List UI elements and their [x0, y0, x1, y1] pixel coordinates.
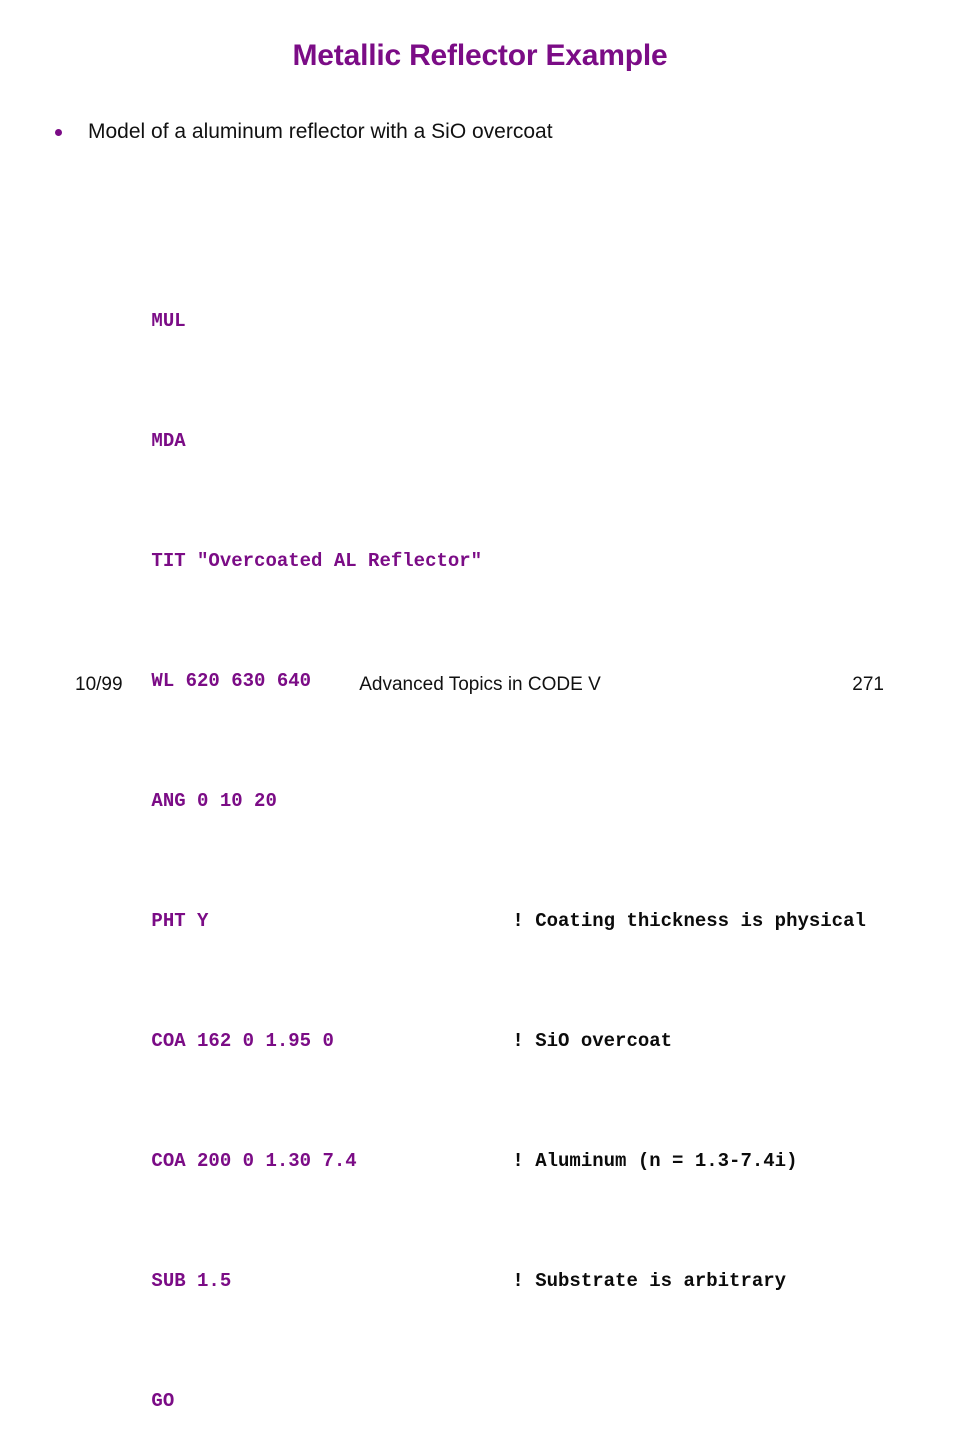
- code-line: COA 162 0 1.95 0! SiO overcoat: [83, 996, 866, 1026]
- code-command: SUB 1.5: [151, 1266, 512, 1296]
- code-command: MUL: [151, 306, 185, 336]
- code-command: ANG 0 10 20: [151, 786, 276, 816]
- footer-title: Advanced Topics in CODE V: [0, 670, 960, 700]
- bullet-item-label: Model of a aluminum reflector with a SiO…: [88, 119, 553, 145]
- code-line: PHT Y! Coating thickness is physical: [83, 876, 866, 906]
- bullet-point-icon: [55, 129, 62, 136]
- code-comment: ! Substrate is arbitrary: [512, 1266, 786, 1296]
- code-line: TIT "Overcoated AL Reflector": [83, 516, 866, 546]
- code-line: COA 200 0 1.30 7.4! Aluminum (n = 1.3-7.…: [83, 1116, 866, 1146]
- code-line: MDA: [83, 396, 866, 426]
- page-title: Metallic Reflector Example: [0, 38, 960, 74]
- code-command: PHT Y: [151, 906, 512, 936]
- code-comment: ! Coating thickness is physical: [512, 906, 865, 936]
- code-line: SUB 1.5! Substrate is arbitrary: [83, 1236, 866, 1266]
- code-command: TIT "Overcoated AL Reflector": [151, 546, 482, 576]
- code-line: ANG 0 10 20: [83, 756, 866, 786]
- code-command: COA 200 0 1.30 7.4: [151, 1146, 512, 1176]
- code-listing: MUL MDA TIT "Overcoated AL Reflector" WL…: [83, 186, 866, 1440]
- code-command: MDA: [151, 426, 185, 456]
- code-line: GO: [83, 1356, 866, 1386]
- code-comment: ! SiO overcoat: [512, 1026, 672, 1056]
- code-line: MUL: [83, 276, 866, 306]
- code-comment: ! Aluminum (n = 1.3-7.4i): [512, 1146, 797, 1176]
- code-line: WL 620 630 640: [83, 636, 866, 666]
- footer-page-number: 271: [852, 670, 884, 700]
- code-command: GO: [151, 1386, 174, 1416]
- slide-canvas: Metallic Reflector Example Model of a al…: [0, 0, 960, 720]
- slide-footer: 10/99 Advanced Topics in CODE V 271: [0, 670, 960, 700]
- code-command: COA 162 0 1.95 0: [151, 1026, 512, 1056]
- bullet-item: Model of a aluminum reflector with a SiO…: [55, 119, 553, 145]
